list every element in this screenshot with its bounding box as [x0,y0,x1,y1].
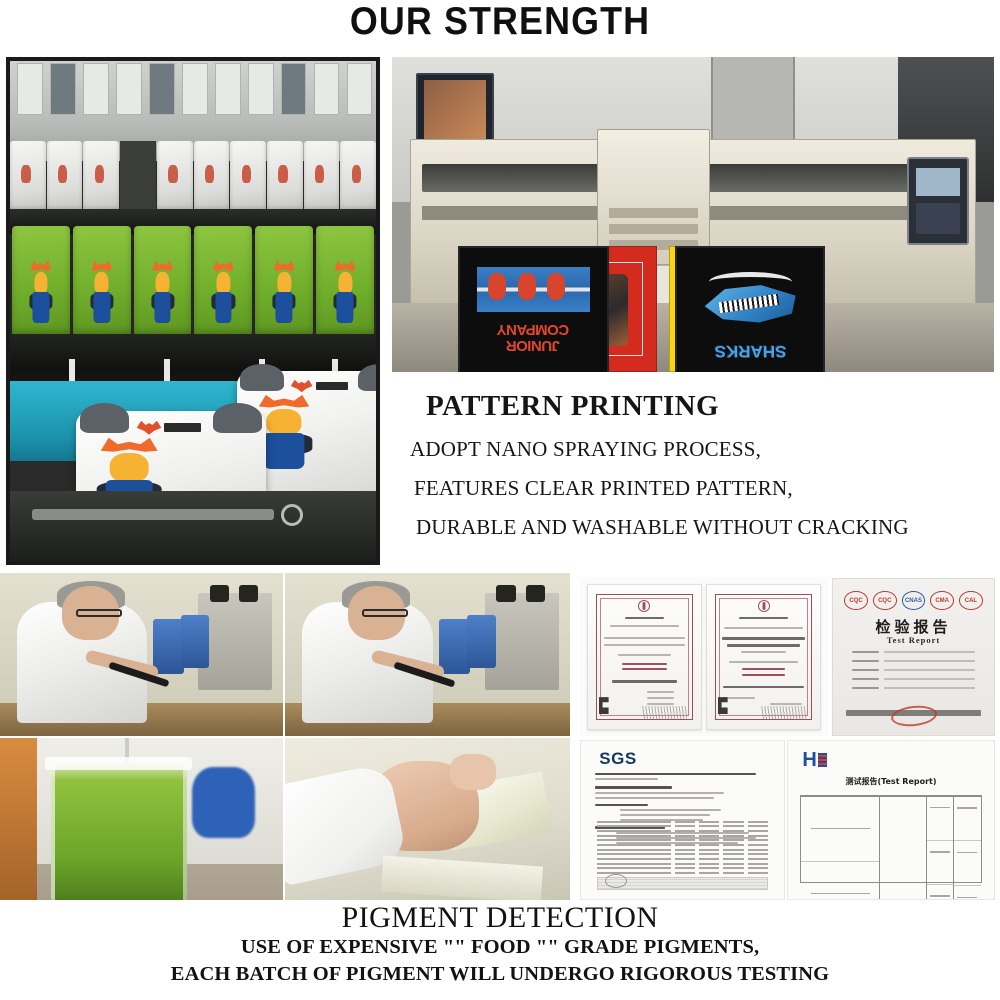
photo-hand-holding-sample [285,738,570,900]
certification-logo-row: CQC CQC CNAS CMA CAL [844,591,982,610]
certificate-right [706,584,820,729]
sharks-wordmark: SHARKS [694,341,807,361]
photo-lab-technician-left [0,573,283,736]
sgs-results-table [597,820,768,874]
our-strength-page: OUR STRENGTH [0,0,1000,1000]
test-report-table [800,795,981,883]
printer-control-panel[interactable] [907,157,969,244]
pattern-printing-heading: PATTERN PRINTING [400,390,1000,423]
press-machine-base [10,491,376,561]
pattern-printing-line-2: FEATURES CLEAR PRINTED PATTERN, [400,478,1000,499]
photo-screen-printing-carousel [6,57,380,565]
junior-line-1: JUNIOR [507,338,561,353]
cert-logo-cal: CAL [959,591,983,610]
pattern-printing-line-3: DURABLE AND WASHABLE WITHOUT CRACKING [400,517,1000,538]
pigment-detection-line-2: EACH BATCH OF PIGMENT WILL UNDERGO RIGOR… [0,961,1000,988]
pigment-detection-text-block: PIGMENT DETECTION USE OF EXPENSIVE "" FO… [0,902,1000,988]
printer-monitor [416,73,494,149]
cert-logo-cqc-1: CQC [844,591,868,610]
printed-shirt-junior-company: JUNIOR COMPANY [458,246,609,372]
sgs-logo: SGS [599,749,636,769]
document-certificates-pair [580,578,828,736]
photo-flatbed-printer: JUNIOR COMPANY SHARKS [392,57,994,372]
report-red-stamp [890,703,938,728]
pigment-detection-line-1: USE OF EXPENSIVE "" FOOD "" GRADE PIGMEN… [0,934,1000,961]
page-title: OUR STRENGTH [40,0,960,50]
h-logo: H [802,749,826,772]
pattern-printing-line-1: ADOPT NANO SPRAYING PROCESS, [400,439,1000,460]
document-test-report: H 测试报告(Test Report) [787,740,995,900]
pigment-detection-heading: PIGMENT DETECTION [0,902,1000,934]
white-shirt-row [10,141,376,211]
cert-logo-cqc-2: CQC [873,591,897,610]
certificate-left [587,584,701,729]
cert-logo-cma: CMA [930,591,954,610]
photo-lab-technician-right [285,573,570,736]
photo-green-pigment-beaker [0,738,283,900]
document-inspection-report: CQC CQC CNAS CMA CAL 检验报告 Test Report [832,578,995,736]
document-sgs-report: SGS [580,740,785,900]
report-field-rows [852,651,974,692]
cert-logo-cnas: CNAS [902,591,926,610]
pattern-printing-text-block: PATTERN PRINTING ADOPT NANO SPRAYING PRO… [400,390,1000,556]
report-title-english: Test Report [833,635,994,645]
printed-shirt-sharks: SHARKS [675,246,826,372]
junior-line-2: COMPANY [497,323,569,338]
green-shirt-row [10,226,376,336]
test-report-title: 测试报告(Test Report) [788,776,994,787]
